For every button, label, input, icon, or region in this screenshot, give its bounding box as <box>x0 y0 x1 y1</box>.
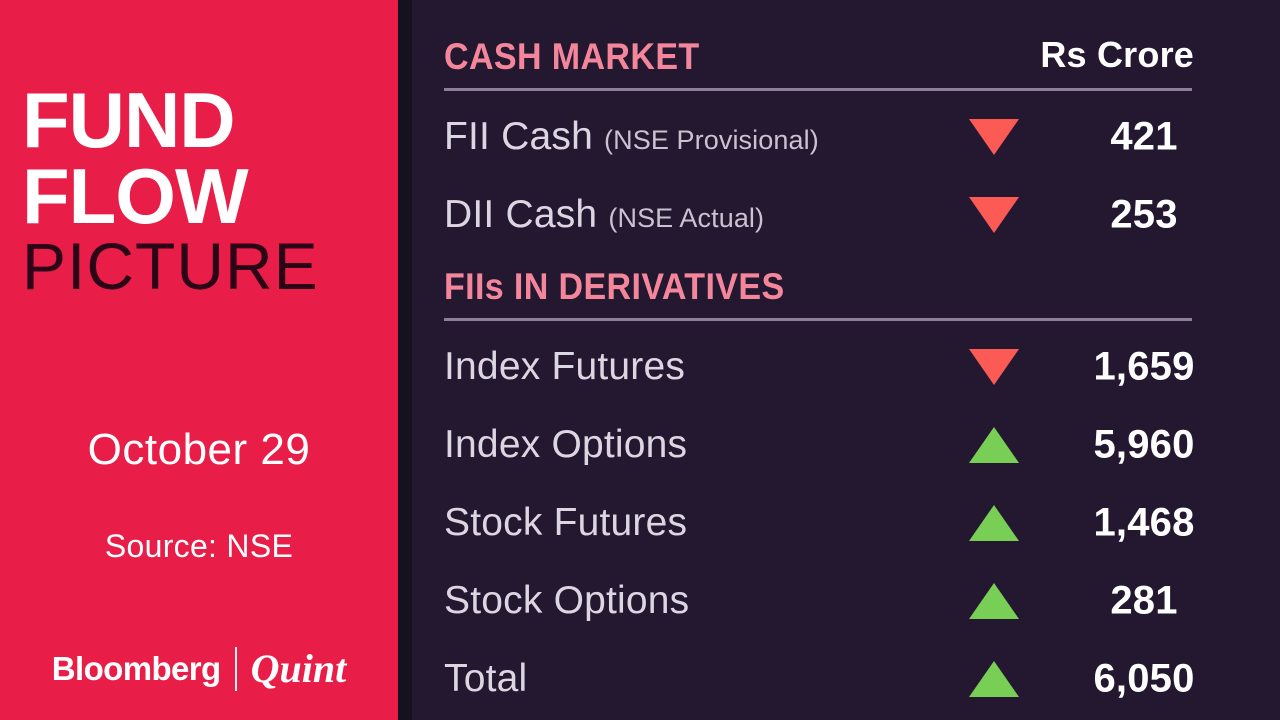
row-value: 421 <box>1044 115 1244 160</box>
section-rule <box>444 88 1192 91</box>
row-value: 1,659 <box>1044 345 1244 390</box>
brand-line-fund: FUND <box>22 82 382 158</box>
direction-indicator <box>954 659 1034 699</box>
row-label-main: FII Cash <box>444 115 593 158</box>
section-rule <box>444 318 1192 321</box>
row-label-sub: (NSE Provisional) <box>604 125 819 155</box>
row-label: Index Options <box>444 423 687 467</box>
triangle-down-icon <box>969 119 1019 155</box>
section-title-cash-market: CASH MARKET <box>444 36 700 78</box>
brand-line-picture: PICTURE <box>22 233 382 300</box>
row-label: Stock Options <box>444 579 689 623</box>
table-row: DII Cash (NSE Actual) 253 <box>444 176 1194 254</box>
row-value: 5,960 <box>1044 423 1244 468</box>
panel-seam-divider <box>398 0 412 720</box>
direction-indicator <box>954 581 1034 621</box>
section-cash-market: CASH MARKET Rs Crore FII Cash (NSE Provi… <box>444 36 1194 88</box>
source-label: Source: NSE <box>0 528 398 565</box>
infographic-root: FUND FLOW PICTURE October 29 Source: NSE… <box>0 0 1280 720</box>
brand-title-block: FUND FLOW PICTURE <box>22 82 382 300</box>
row-label-main: DII Cash <box>444 193 597 236</box>
table-row: Index Options 5,960 <box>444 406 1194 484</box>
direction-indicator <box>954 425 1034 465</box>
section-title-fiis-in-derivatives: FIIs IN DERIVATIVES <box>444 266 785 308</box>
brand-line-flow: FLOW <box>22 158 382 234</box>
table-row: Stock Options 281 <box>444 562 1194 640</box>
direction-indicator <box>954 503 1034 543</box>
triangle-up-icon <box>969 661 1019 697</box>
section-header: CASH MARKET Rs Crore <box>444 36 1194 88</box>
row-value: 253 <box>1044 193 1244 238</box>
section-header: FIIs IN DERIVATIVES <box>444 266 1194 318</box>
section-fiis-in-derivatives: FIIs IN DERIVATIVES Index Futures 1,659 … <box>444 266 1194 318</box>
row-label-sub: (NSE Actual) <box>608 203 764 233</box>
table-row: Index Futures 1,659 <box>444 328 1194 406</box>
table-row: Total 6,050 <box>444 640 1194 718</box>
row-value: 1,468 <box>1044 501 1244 546</box>
triangle-up-icon <box>969 505 1019 541</box>
triangle-down-icon <box>969 197 1019 233</box>
direction-indicator <box>954 347 1034 387</box>
row-label: FII Cash (NSE Provisional) <box>444 115 819 159</box>
row-label: Total <box>444 657 527 701</box>
row-label: Stock Futures <box>444 501 687 545</box>
row-value: 281 <box>1044 579 1244 624</box>
row-label: Index Futures <box>444 345 685 389</box>
row-value: 6,050 <box>1044 657 1244 702</box>
triangle-up-icon <box>969 583 1019 619</box>
triangle-down-icon <box>969 349 1019 385</box>
publisher-logo: Bloomberg Quint <box>0 645 398 692</box>
triangle-up-icon <box>969 427 1019 463</box>
derivatives-rows: Index Futures 1,659 Index Options 5,960 … <box>444 328 1194 718</box>
cash-market-rows: FII Cash (NSE Provisional) 421 DII Cash … <box>444 98 1194 254</box>
logo-separator <box>235 647 237 691</box>
direction-indicator <box>954 195 1034 235</box>
direction-indicator <box>954 117 1034 157</box>
logo-bloomberg-text: Bloomberg <box>52 650 221 688</box>
unit-label: Rs Crore <box>1040 34 1194 76</box>
table-row: FII Cash (NSE Provisional) 421 <box>444 98 1194 176</box>
table-row: Stock Futures 1,468 <box>444 484 1194 562</box>
logo-quint-text: Quint <box>251 645 347 692</box>
date-label: October 29 <box>0 425 398 475</box>
row-label: DII Cash (NSE Actual) <box>444 193 764 237</box>
